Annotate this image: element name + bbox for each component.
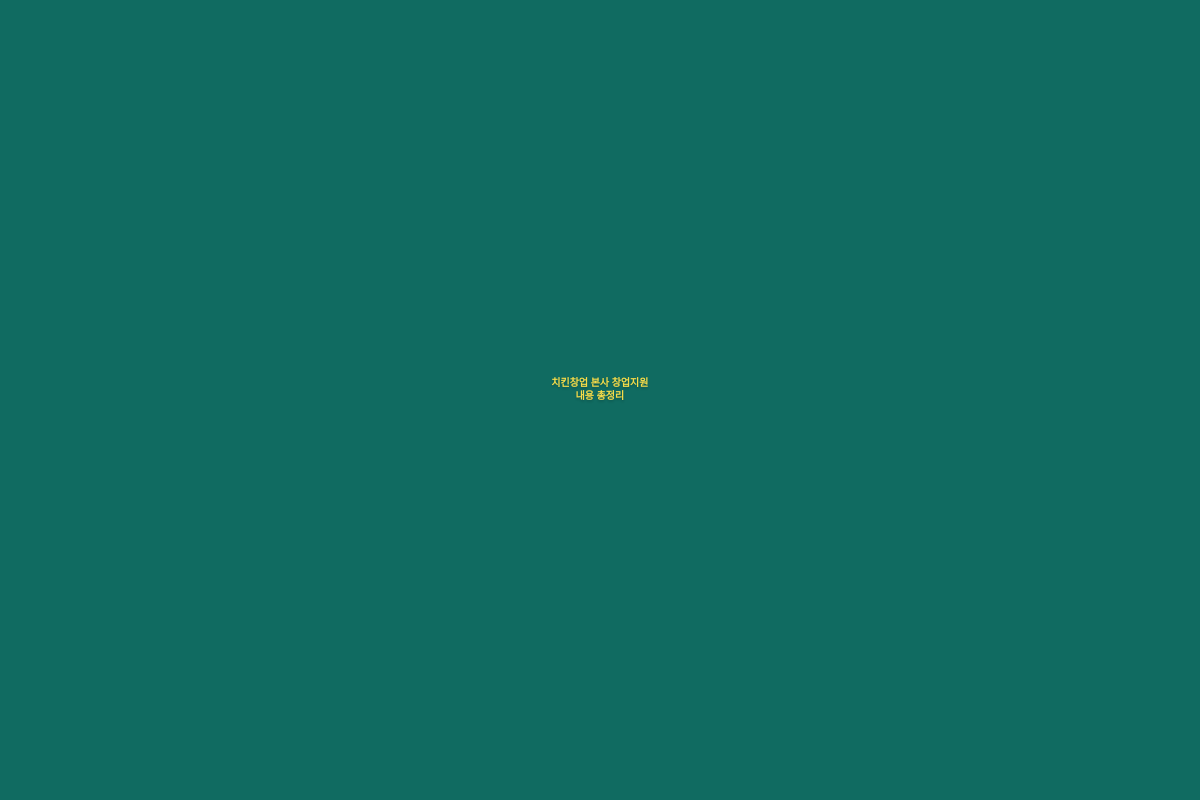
headline-line-1: 치킨창업 본사 창업지원 <box>0 377 1200 390</box>
headline-block: 치킨창업 본사 창업지원 내용 총정리 <box>0 377 1200 403</box>
banner-canvas: 치킨창업 본사 창업지원 내용 총정리 <box>0 0 1200 800</box>
headline-line-2: 내용 총정리 <box>0 390 1200 403</box>
